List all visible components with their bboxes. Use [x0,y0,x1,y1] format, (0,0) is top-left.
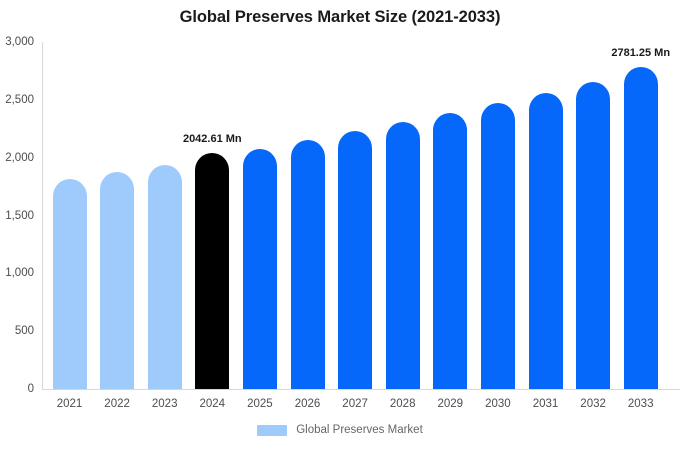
y-tick-label: 500 [0,325,34,337]
legend-item[interactable]: Global Preserves Market [257,424,423,436]
bar-value-label: 2042.61 Mn [183,133,242,145]
y-tick-label: 2,000 [0,152,34,164]
y-tick-label: 0 [0,383,34,395]
x-axis-tick-labels: 2021202220232024202520262027202820292030… [42,0,680,450]
y-tick-label: 2,500 [0,94,34,106]
legend-label: Global Preserves Market [296,424,423,436]
y-tick-label: 1,000 [0,267,34,279]
bar-chart: Global Preserves Market Size (2021-2033)… [0,0,680,450]
legend-swatch [257,425,287,436]
y-tick-label: 3,000 [0,36,34,48]
x-tick-label: 2033 [611,398,671,410]
bar-value-label: 2781.25 Mn [611,47,670,59]
y-tick-label: 1,500 [0,210,34,222]
chart-legend: Global Preserves Market [0,424,680,436]
